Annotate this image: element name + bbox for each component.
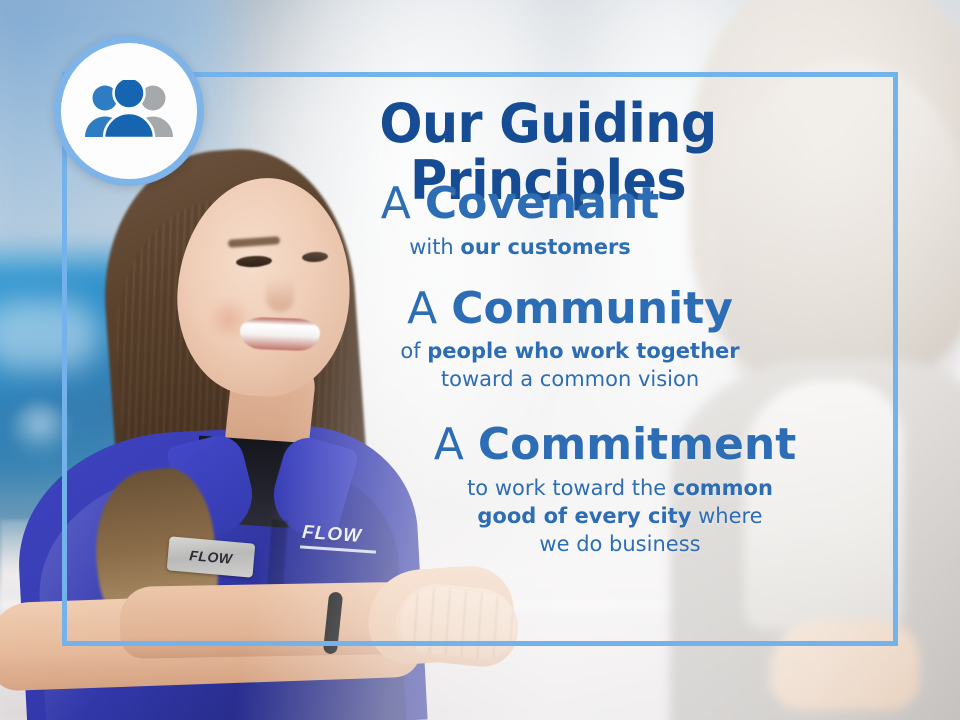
- principle-subtext: to work toward the common good of every …: [350, 474, 880, 558]
- subline-lead: with: [409, 235, 460, 259]
- principle-heading: A Commitment: [350, 421, 880, 469]
- subline-lead: to work toward the: [467, 476, 673, 500]
- subline-bold: good of every city: [477, 504, 691, 528]
- subline: of people who work together: [260, 337, 880, 365]
- people-group-icon: [54, 36, 204, 186]
- principle-covenant: A Covenant with our customers: [220, 180, 880, 261]
- principle-article: A: [434, 419, 464, 470]
- subline: to work toward the common: [360, 474, 880, 502]
- principle-subtext: of people who work together toward a com…: [260, 337, 880, 393]
- customer-hand: [770, 620, 920, 710]
- subline-bold: common: [673, 476, 773, 500]
- principle-article: A: [407, 283, 437, 334]
- principle-community: A Community of people who work together …: [220, 285, 880, 394]
- principle-commitment: A Commitment to work toward the common g…: [220, 421, 880, 558]
- principle-keyword: Community: [451, 283, 733, 334]
- subline: good of every city where: [360, 502, 880, 530]
- principle-subtext: with our customers: [220, 233, 820, 261]
- subline-lead: we do business: [539, 532, 700, 556]
- principle-keyword: Commitment: [478, 419, 796, 470]
- subline: toward a common vision: [260, 365, 880, 393]
- subline-lead: toward a common vision: [441, 367, 699, 391]
- subline: we do business: [360, 530, 880, 558]
- principle-keyword: Covenant: [425, 178, 659, 229]
- subline-bold: people who work together: [427, 339, 739, 363]
- principle-heading: A Covenant: [220, 180, 820, 228]
- subline-bold: our customers: [460, 235, 630, 259]
- subline-tail: where: [691, 504, 762, 528]
- subline-lead: of: [400, 339, 427, 363]
- principle-heading: A Community: [260, 285, 880, 333]
- principle-article: A: [381, 178, 411, 229]
- principles-list: A Covenant with our customers A Communit…: [220, 180, 880, 572]
- guiding-principles-graphic: FLOW FLOW Our Guiding Princ: [0, 0, 960, 720]
